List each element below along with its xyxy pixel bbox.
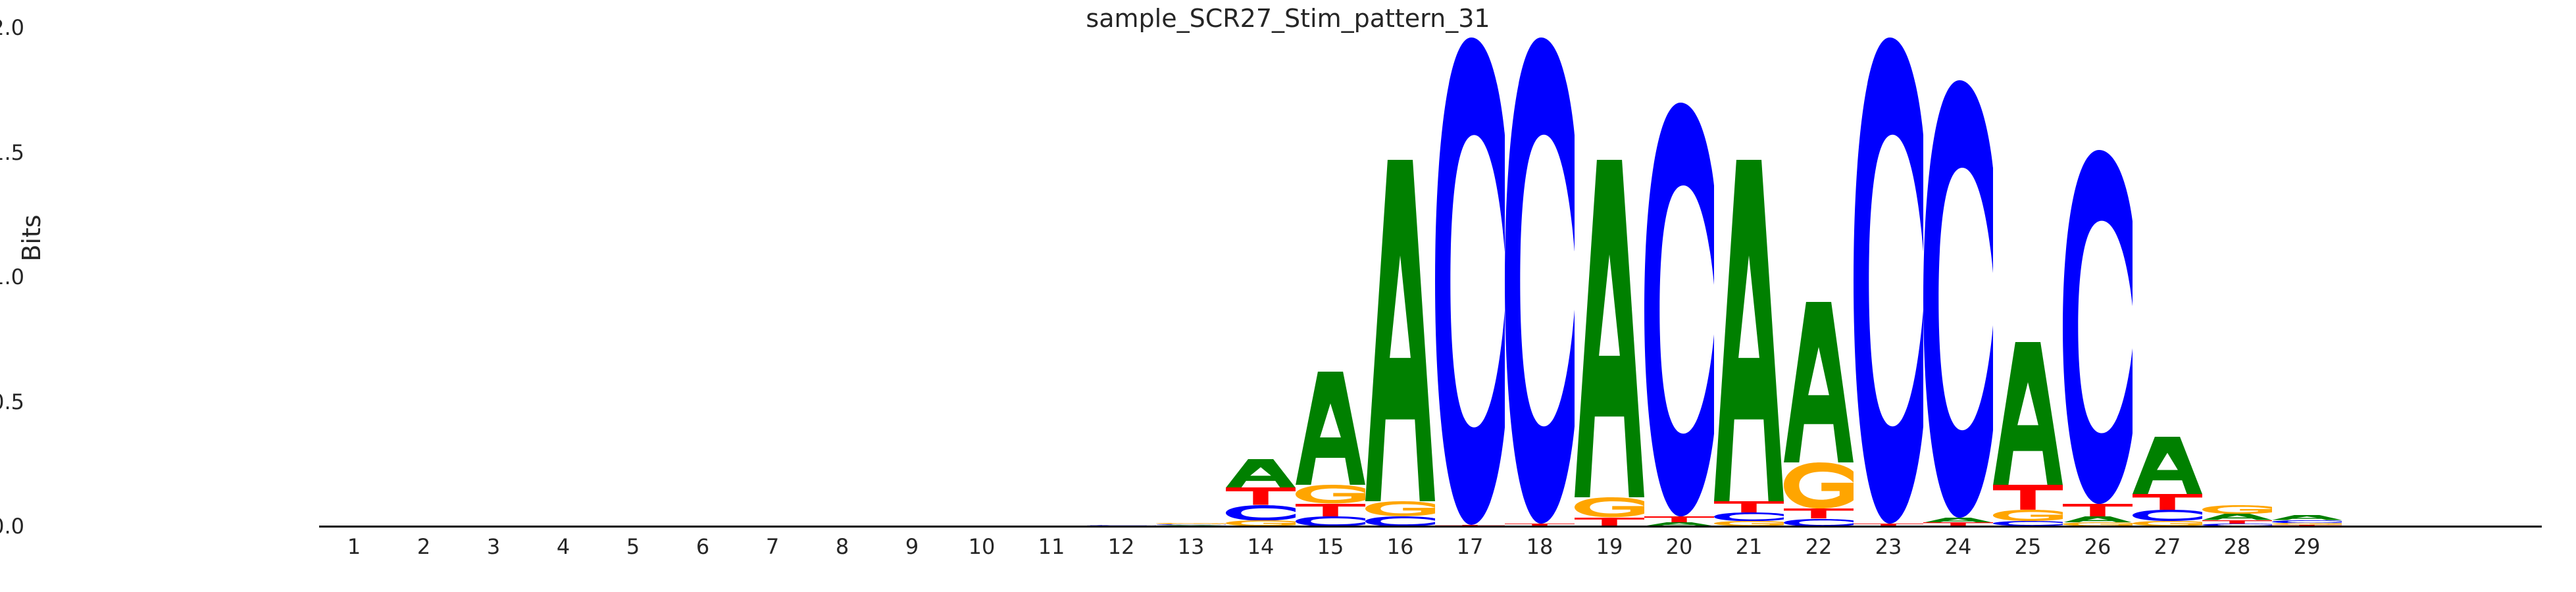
logo-stack-position-20: [1644, 28, 1714, 526]
logo-letter-A: [1784, 302, 1854, 462]
logo-stack-position-15: [1296, 28, 1365, 526]
x-tick-label: 10: [947, 534, 1017, 559]
x-tick-label: 9: [877, 534, 947, 559]
y-tick-label: 1.0: [0, 264, 24, 289]
logo-letter-C: [1854, 37, 1923, 524]
x-tick-label: 18: [1505, 534, 1575, 559]
logo-letter-T: [2133, 494, 2202, 510]
logo-letter-A: [2202, 514, 2272, 520]
logo-letter-T: [1296, 504, 1365, 516]
logo-stack-position-29: [2272, 28, 2342, 526]
x-tick-label: 20: [1644, 534, 1714, 559]
logo-stack-position-8: [807, 28, 877, 526]
logo-letter-G: [1784, 462, 1854, 508]
x-tick-label: 14: [1226, 534, 1296, 559]
logo-letter-G: [2202, 505, 2272, 514]
x-tick-label: 8: [807, 534, 877, 559]
logo-letter-T: [1714, 501, 1784, 512]
logo-letter-T: [1644, 516, 1714, 522]
x-tick-label: 24: [1923, 534, 1993, 559]
plot-area: [319, 28, 2542, 526]
logo-stack-position-1: [319, 28, 389, 526]
logo-letter-C: [1226, 505, 1296, 520]
logo-letter-C: [1923, 80, 1993, 518]
logo-letter-A: [2133, 437, 2202, 494]
logo-letter-C: [2133, 510, 2202, 521]
logo-stack-position-19: [1575, 28, 1644, 526]
x-tick-label: 6: [668, 534, 738, 559]
x-tick-label: 25: [1993, 534, 2063, 559]
logo-stack-position-23: [1854, 28, 1923, 526]
x-tick-label: 15: [1296, 534, 1365, 559]
x-tick-label: 13: [1156, 534, 1226, 559]
logo-stack-position-9: [877, 28, 947, 526]
logo-stack-position-26: [2063, 28, 2133, 526]
logo-letter-C: [1714, 512, 1784, 521]
logo-letter-C: [1505, 37, 1575, 524]
x-tick-label: 28: [2202, 534, 2272, 559]
x-tick-label: 26: [2063, 534, 2133, 559]
logo-letter-G: [1993, 510, 2063, 521]
x-tick-label: 27: [2133, 534, 2202, 559]
logo-stack-position-5: [598, 28, 668, 526]
logo-letter-A: [1714, 160, 1784, 501]
logo-stack-position-17: [1435, 28, 1505, 526]
logo-stack-position-7: [738, 28, 807, 526]
logo-stack-position-18: [1505, 28, 1575, 526]
logo-letter-A: [1226, 459, 1296, 488]
logo-stack-position-21: [1714, 28, 1784, 526]
logo-stack-position-14: [1226, 28, 1296, 526]
x-tick-label: 22: [1784, 534, 1854, 559]
logo-stack-position-3: [459, 28, 528, 526]
logo-letter-G: [1365, 501, 1435, 516]
x-tick-label: 21: [1714, 534, 1784, 559]
x-tick-label: 5: [598, 534, 668, 559]
logo-stack-position-10: [947, 28, 1017, 526]
logo-letter-T: [2063, 504, 2133, 516]
logo-letter-T: [1575, 518, 1644, 526]
logo-letter-A: [1365, 160, 1435, 501]
logo-letter-A: [1993, 342, 2063, 485]
x-tick-label: 16: [1365, 534, 1435, 559]
x-tick-label: 29: [2272, 534, 2342, 559]
logo-letter-T: [1784, 508, 1854, 518]
y-tick-label: 1.5: [0, 140, 24, 165]
x-tick-label: 7: [738, 534, 807, 559]
x-tick-label: 17: [1435, 534, 1505, 559]
x-axis-line: [319, 526, 2542, 528]
logo-letter-A: [2063, 516, 2133, 522]
logo-letter-G: [1575, 497, 1644, 517]
logo-stack-position-16: [1365, 28, 1435, 526]
y-tick-label: 0.0: [0, 514, 24, 539]
logo-letter-C: [1435, 37, 1505, 525]
x-tick-label: 3: [459, 534, 528, 559]
logo-stack-position-12: [1086, 28, 1156, 526]
logo-stack-position-2: [389, 28, 459, 526]
logo-letter-A: [2272, 515, 2342, 520]
logo-stack-position-11: [1017, 28, 1086, 526]
x-tick-label: 4: [528, 534, 598, 559]
sequence-logo-figure: sample_SCR27_Stim_pattern_31 Bits 0.00.5…: [0, 0, 2576, 592]
x-tick-label: 19: [1575, 534, 1644, 559]
logo-letter-C: [1296, 516, 1365, 526]
logo-letter-C: [1644, 103, 1714, 516]
x-tick-label: 12: [1086, 534, 1156, 559]
x-tick-label: 11: [1017, 534, 1086, 559]
logo-stack-position-6: [668, 28, 738, 526]
x-tick-label: 1: [319, 534, 389, 559]
logo-letter-A: [1575, 160, 1644, 498]
y-tick-label: 2.0: [0, 15, 24, 40]
logo-letter-C: [1365, 516, 1435, 526]
x-tick-label: 23: [1854, 534, 1923, 559]
y-tick-label: 0.5: [0, 389, 24, 414]
logo-letter-A: [1296, 372, 1365, 485]
logo-letter-G: [1296, 485, 1365, 503]
logo-stack-position-22: [1784, 28, 1854, 526]
x-tick-label: 2: [389, 534, 459, 559]
logo-stack-position-27: [2133, 28, 2202, 526]
logo-letter-T: [1993, 485, 2063, 510]
logo-letter-C: [2063, 150, 2133, 504]
logo-letter-A: [1923, 518, 1993, 523]
logo-stack-position-13: [1156, 28, 1226, 526]
logo-stack-position-24: [1923, 28, 1993, 526]
logo-stack-position-4: [528, 28, 598, 526]
logo-stack-position-28: [2202, 28, 2272, 526]
logo-stack-position-25: [1993, 28, 2063, 526]
logo-letter-T: [1226, 487, 1296, 505]
